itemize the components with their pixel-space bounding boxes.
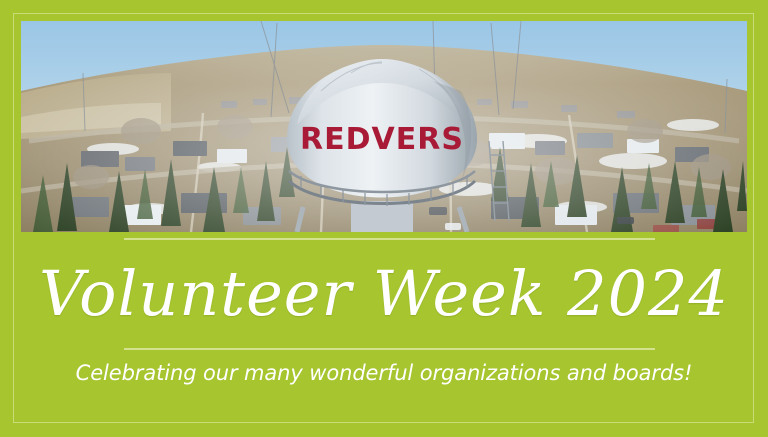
tower-text-redvers: REDVERS xyxy=(300,122,464,157)
aerial-photo-illustration: REDVERS xyxy=(21,21,747,232)
divider-below-title xyxy=(124,348,655,350)
page-title: Volunteer Week 2024 xyxy=(0,250,768,338)
divider-above-title xyxy=(124,238,655,240)
caption-block: Volunteer Week 2024 Celebrating our many… xyxy=(0,232,768,437)
redvers-aerial-photo: REDVERS xyxy=(21,21,747,232)
volunteer-week-poster: REDVERS xyxy=(0,0,768,437)
page-subtitle: Celebrating our many wonderful organizat… xyxy=(0,358,768,388)
